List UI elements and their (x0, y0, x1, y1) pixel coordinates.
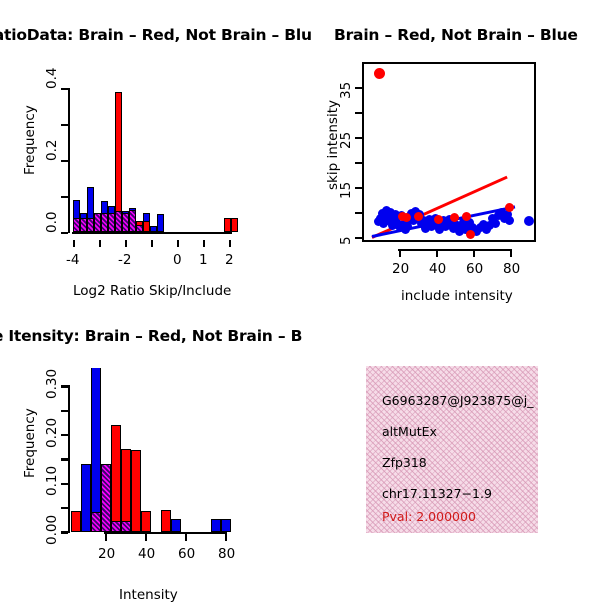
y-ticklabel-ratio-4: 0.4 (44, 68, 60, 89)
bar-overlap-int-2 (101, 464, 111, 532)
info-pval: Pval: 2.000000 (382, 509, 476, 524)
scatter-point-red (434, 215, 443, 224)
x-tick-scatter-80 (510, 251, 512, 257)
x-ticklabel-int-60: 60 (178, 546, 195, 562)
x-tick-scatter-40 (436, 251, 438, 257)
bar-overlap-int-1 (91, 512, 101, 532)
panel-title-gene-intensity-histogram: ne Itensity: Brain – Red, Not Brain – B (0, 327, 302, 345)
bar-blue-int-12 (221, 519, 231, 532)
y-ticklabel-scatter-35: 35 (338, 82, 354, 99)
gene-info-box: G6963287@J923875@j_ altMutEx Zfp318 chr1… (366, 366, 538, 533)
info-locus: chr17.11327−1.9 (382, 486, 492, 501)
scatter-point-red-outlier (374, 68, 385, 79)
x-tick-int-20 (105, 534, 107, 541)
y-ticklabel-int-020: 0.20 (44, 418, 60, 448)
bar-overlap-int-4 (121, 521, 131, 532)
plot-area-ratio-histogram (60, 55, 240, 233)
bar-red-int-0 (71, 511, 81, 532)
y-tick-scatter-35 (355, 87, 362, 89)
x-tick-ratio-5 (203, 240, 205, 247)
bar-blue-12 (157, 214, 164, 232)
panel-title-intensity-scatter: Brain – Red, Not Brain – Blue (334, 26, 578, 44)
x-ticklabel-scatter-60: 60 (466, 261, 483, 277)
x-ticklabel-int-40: 40 (138, 546, 155, 562)
scatter-point-blue (491, 219, 500, 228)
x-ticklabel-ratio-5: 1 (199, 252, 208, 268)
y-tick-scatter-20 (355, 162, 362, 164)
axis-label-frequency-ratio: Frequency (22, 105, 38, 175)
x-tick-ratio-3 (151, 240, 153, 247)
x-ticklabel-scatter-20: 20 (392, 261, 409, 277)
y-tick-scatter-10 (355, 212, 362, 214)
x-ticklabel-int-80: 80 (218, 546, 235, 562)
bar-blue-int-1 (91, 368, 101, 532)
x-tick-int-40 (145, 534, 147, 541)
y-ticklabel-scatter-15: 15 (338, 182, 354, 199)
bar-red-int-4 (111, 425, 121, 532)
x-tick-ratio-6 (229, 240, 231, 247)
bar-overlap-6 (115, 211, 122, 232)
bar-red-int-6 (131, 450, 141, 532)
y-ticklabel-int-000: 0.00 (44, 515, 60, 545)
figure-canvas: RatioData: Brain – Red, Not Brain – Blu … (0, 0, 600, 600)
bar-overlap-5 (108, 213, 115, 232)
y-tick-scatter-30 (355, 112, 362, 114)
y-ticklabel-scatter-25: 25 (338, 132, 354, 149)
x-axis-line-scatter (398, 249, 512, 251)
bar-overlap-int-3 (111, 521, 121, 532)
bar-blue-int-10 (171, 519, 181, 532)
bar-overlap-0 (73, 218, 80, 232)
axis-label-include-intensity: include intensity (401, 288, 513, 304)
scatter-point-red (450, 213, 459, 222)
x-tick-scatter-20 (399, 251, 401, 257)
scatter-point-blue (505, 216, 514, 225)
x-ticklabel-ratio-6: 2 (225, 252, 234, 268)
y-ticklabel-scatter-5: 5 (338, 236, 354, 245)
scatter-point-red (402, 213, 411, 222)
bar-red-int-7 (141, 511, 151, 532)
scatter-plot-area (364, 64, 534, 240)
y-tick-scatter-25 (355, 137, 362, 139)
scatter-point-red (505, 203, 514, 212)
axis-label-intensity: Intensity (119, 587, 178, 603)
panel-title-ratio-histogram: RatioData: Brain – Red, Not Brain – Blu (0, 26, 312, 44)
bar-red-10 (143, 221, 150, 232)
y-ticklabel-int-010: 0.10 (44, 466, 60, 496)
y-ticklabel-int-030: 0.30 (44, 369, 60, 399)
bar-overlap-3 (94, 213, 101, 232)
bar-overlap-1 (80, 218, 87, 232)
y-tick-scatter-5 (355, 237, 362, 239)
x-ticklabel-scatter-80: 80 (503, 261, 520, 277)
x-ticklabel-ratio-0: -4 (66, 252, 79, 268)
axis-label-frequency-intensity: Frequency (22, 408, 38, 478)
scatter-point-red (466, 230, 475, 239)
y-ticklabel-ratio-2: 0.2 (44, 140, 60, 161)
bar-red-12 (231, 218, 238, 232)
x-tick-ratio-4 (177, 240, 179, 247)
bar-overlap-2 (87, 218, 94, 232)
bar-blue-int-11 (211, 519, 221, 532)
bar-red-int-5 (121, 449, 131, 532)
bar-overlap-7 (122, 213, 129, 232)
bar-blue-int-0 (81, 464, 91, 532)
x-tick-ratio-2 (125, 240, 127, 247)
x-tick-int-80 (225, 534, 227, 541)
x-ticklabel-ratio-4: 0 (173, 252, 182, 268)
x-ticklabel-int-20: 20 (98, 546, 115, 562)
info-event-type: altMutEx (382, 424, 437, 439)
info-gene-symbol: Zfp318 (382, 455, 427, 470)
y-tick-scatter-15 (355, 187, 362, 189)
x-ticklabel-ratio-2: -2 (118, 252, 131, 268)
bar-overlap-4 (101, 213, 108, 232)
scatter-point-red (414, 212, 423, 221)
axis-label-log2ratio: Log2 Ratio Skip/Include (73, 283, 231, 299)
bar-red-int-9 (161, 510, 171, 532)
x-ticklabel-scatter-40: 40 (429, 261, 446, 277)
bar-overlap-9 (136, 225, 143, 232)
plot-area-gene-intensity (60, 368, 250, 533)
bar-overlap-8 (129, 210, 136, 232)
x-tick-scatter-60 (473, 251, 475, 257)
info-id-line: G6963287@J923875@j_ (382, 393, 533, 408)
x-tick-int-60 (185, 534, 187, 541)
x-tick-ratio-0 (73, 240, 75, 247)
scatter-point-red (462, 212, 471, 221)
bar-blue-11 (150, 226, 157, 232)
bar-red-11 (224, 218, 231, 232)
y-ticklabel-ratio-0: 0.0 (44, 212, 60, 233)
x-tick-ratio-1 (99, 240, 101, 247)
scatter-point-blue (524, 216, 534, 226)
